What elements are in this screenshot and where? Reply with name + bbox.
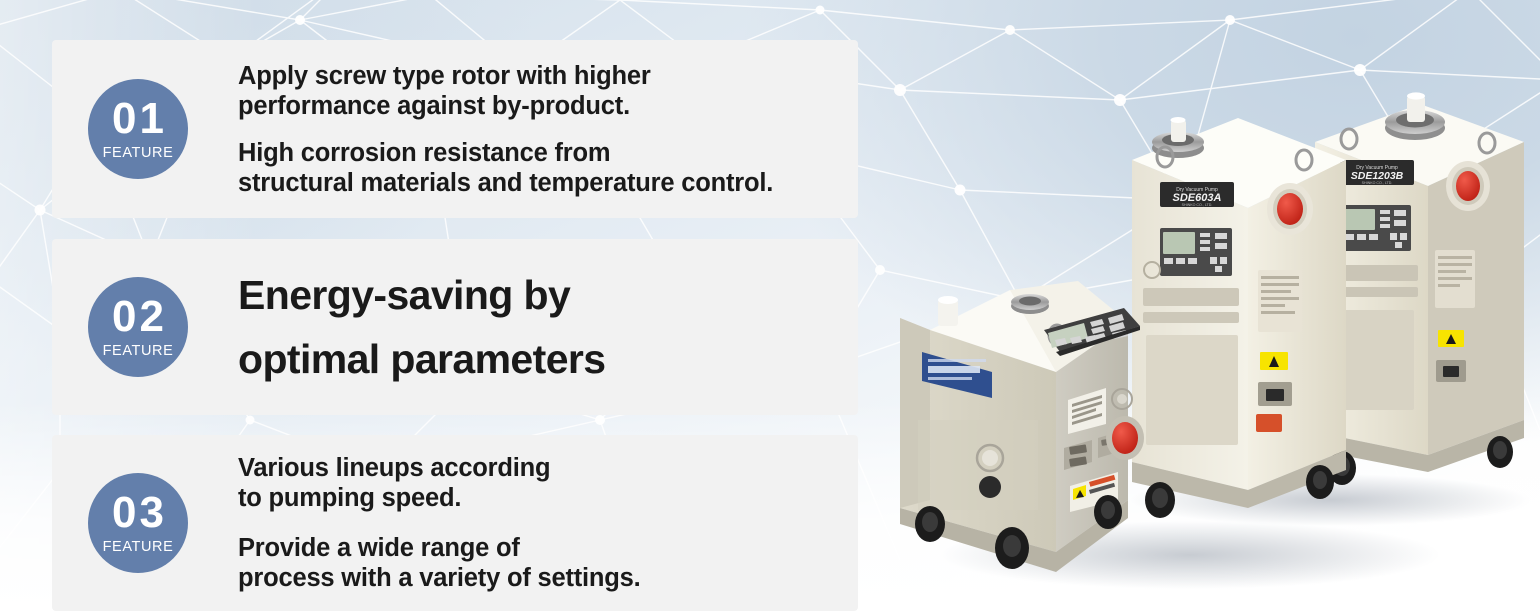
- feature-label: FEATURE: [103, 343, 174, 359]
- feature-line: Provide a wide range of: [238, 533, 641, 563]
- feature-line: Various lineups according: [238, 453, 641, 483]
- rear-pump-nameplate: Dry Vacuum Pump SDE1203B SHINKO CO., LTD…: [1340, 160, 1414, 185]
- feature-line: optimal parameters: [238, 327, 605, 391]
- feature-card-02: 02 FEATURE Energy-saving by optimal para…: [52, 239, 858, 415]
- feature-card-03: 03 FEATURE Various lineups according to …: [52, 435, 858, 611]
- middle-emergency-stop-button: [1267, 183, 1313, 235]
- feature-number: 02: [112, 295, 167, 339]
- feature-label: FEATURE: [103, 145, 174, 161]
- front-emergency-stop-button: [1106, 416, 1144, 460]
- front-pump-unit: [900, 281, 1144, 572]
- rear-inlet-flange: [1385, 92, 1445, 140]
- feature-label: FEATURE: [103, 539, 174, 555]
- rear-warning-label: [1438, 330, 1464, 347]
- feature-paragraph: Energy-saving by optimal parameters: [238, 263, 605, 391]
- feature-line: performance against by-product.: [238, 91, 773, 121]
- middle-vent-1: [1143, 288, 1239, 306]
- feature-paragraph: Provide a wide range of process with a v…: [238, 533, 641, 593]
- feature-banner: Dry Vacuum Pump SDE1203B SHINKO CO., LTD…: [0, 0, 1540, 611]
- middle-pump-unit: Dry Vacuum Pump SDE603A SHINKO CO., LTD.: [1132, 117, 1346, 518]
- feature-paragraph: High corrosion resistance from structura…: [238, 138, 773, 198]
- feature-line: High corrosion resistance from: [238, 138, 773, 168]
- front-inlet-port: [938, 296, 958, 326]
- feature-line: to pumping speed.: [238, 483, 641, 513]
- middle-vent-2: [1143, 312, 1239, 323]
- feature-line: Apply screw type rotor with higher: [238, 61, 773, 91]
- middle-warning-label: [1260, 352, 1288, 370]
- feature-text-03: Various lineups according to pumping spe…: [238, 453, 641, 593]
- middle-control-panel: [1160, 228, 1232, 276]
- feature-line: process with a variety of settings.: [238, 563, 641, 593]
- product-photo: Dry Vacuum Pump SDE1203B SHINKO CO., LTD…: [860, 0, 1540, 611]
- front-top-flange: [1011, 294, 1049, 314]
- feature-badge-03: 03 FEATURE: [88, 473, 188, 573]
- feature-line: Energy-saving by: [238, 263, 605, 327]
- feature-paragraph: Apply screw type rotor with higher perfo…: [238, 61, 773, 121]
- feature-badge-01: 01 FEATURE: [88, 79, 188, 179]
- feature-text-01: Apply screw type rotor with higher perfo…: [238, 61, 773, 198]
- rear-emergency-stop-button: [1446, 161, 1490, 211]
- feature-line: structural materials and temperature con…: [238, 168, 773, 198]
- feature-text-02: Energy-saving by optimal parameters: [238, 263, 605, 391]
- middle-orange-label: [1256, 414, 1282, 432]
- rear-control-panel: [1341, 205, 1411, 251]
- middle-pump-nameplate: Dry Vacuum Pump SDE603A SHINKO CO., LTD.: [1160, 182, 1234, 207]
- feature-badge-02: 02 FEATURE: [88, 277, 188, 377]
- feature-paragraph: Various lineups according to pumping spe…: [238, 453, 641, 513]
- svg-text:SHINKO CO., LTD.: SHINKO CO., LTD.: [1182, 203, 1213, 207]
- feature-number: 01: [112, 97, 167, 141]
- feature-card-01: 01 FEATURE Apply screw type rotor with h…: [52, 40, 858, 218]
- middle-label-panel: [1258, 270, 1302, 332]
- feature-number: 03: [112, 491, 167, 535]
- rear-pump-unit: Dry Vacuum Pump SDE1203B SHINKO CO., LTD…: [1315, 92, 1524, 485]
- middle-lower-panel: [1146, 335, 1238, 445]
- svg-text:SHINKO CO., LTD.: SHINKO CO., LTD.: [1362, 181, 1393, 185]
